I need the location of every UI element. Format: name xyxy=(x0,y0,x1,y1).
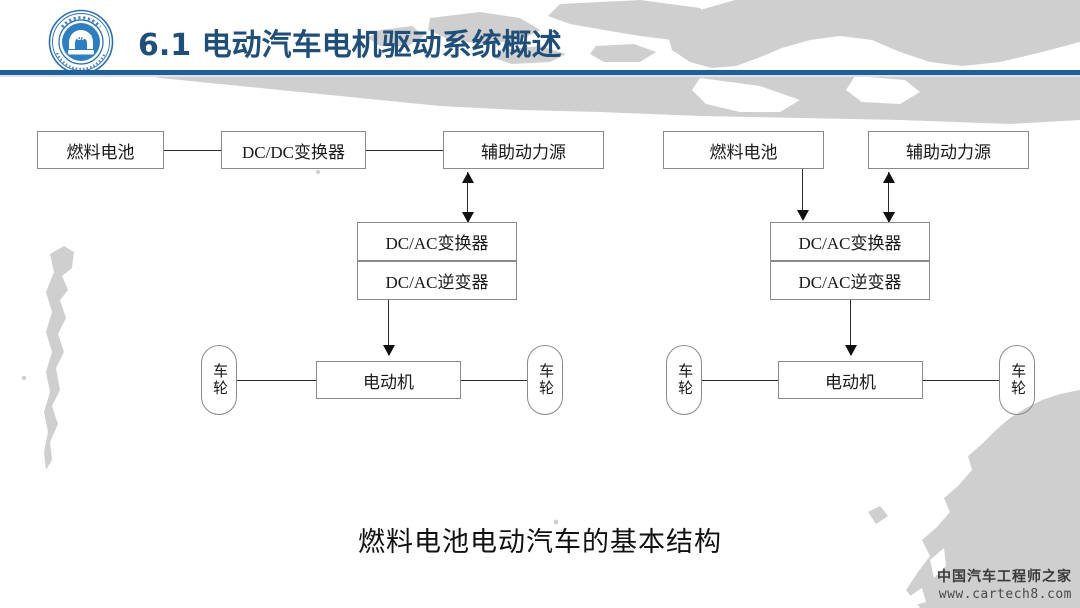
watermark: 中国汽车工程师之家 www.cartech8.com xyxy=(937,566,1072,602)
right-aux-to-dcac-arrow-up xyxy=(883,172,895,183)
right-fuel-cell-box: 燃料电池 xyxy=(663,131,824,169)
right-axle-right xyxy=(923,380,999,381)
right-dcac-to-motor-arrow xyxy=(845,345,857,356)
left-motor-box: 电动机 xyxy=(316,361,461,399)
right-dcac-inverter-box: DC/AC逆变器 xyxy=(770,261,930,300)
left-connector-dcdc-aux xyxy=(366,150,443,151)
right-motor-box: 电动机 xyxy=(778,361,923,399)
background-world-map xyxy=(0,0,1080,608)
left-fuel-cell-box: 燃料电池 xyxy=(37,131,164,169)
left-aux-power-box: 辅助动力源 xyxy=(443,131,604,169)
right-fuelcell-to-dcac-arrow xyxy=(797,210,809,221)
figure-caption: 燃料电池电动汽车的基本结构 xyxy=(0,520,1080,559)
left-axle-right xyxy=(461,380,527,381)
watermark-url-text: www.cartech8.com xyxy=(937,587,1072,602)
page-title: 6.1 电动汽车电机驱动系统概述 xyxy=(138,20,562,64)
svg-text:HUAT: HUAT xyxy=(71,34,92,42)
right-dcac-converter-box: DC/AC变换器 xyxy=(770,222,930,261)
left-dcdc-converter-box: DC/DC变换器 xyxy=(221,131,366,169)
slide: HUAT 6.1 电动汽车电机驱动系统概述 燃料电池 DC/DC变换器 辅助动力… xyxy=(0,0,1080,608)
left-aux-to-dcac-arrow-up xyxy=(462,172,474,183)
left-wheel-left: 车轮 xyxy=(201,345,237,415)
watermark-cn-text: 中国汽车工程师之家 xyxy=(937,566,1072,586)
header-accent-rule-light xyxy=(0,75,1080,77)
right-aux-power-box: 辅助动力源 xyxy=(868,131,1029,169)
left-connector-fuelcell-dcdc xyxy=(164,150,221,151)
left-dcac-converter-box: DC/AC变换器 xyxy=(357,222,517,261)
left-dcac-inverter-box: DC/AC逆变器 xyxy=(357,261,517,300)
slide-header: HUAT 6.1 电动汽车电机驱动系统概述 xyxy=(0,0,1080,78)
right-wheel-left: 车轮 xyxy=(666,345,702,415)
left-axle-left xyxy=(237,380,316,381)
left-wheel-right: 车轮 xyxy=(527,345,563,415)
right-wheel-right: 车轮 xyxy=(999,345,1035,415)
huat-university-emblem-icon: HUAT xyxy=(48,9,114,75)
right-axle-left xyxy=(702,380,778,381)
left-dcac-to-motor-arrow xyxy=(383,345,395,356)
